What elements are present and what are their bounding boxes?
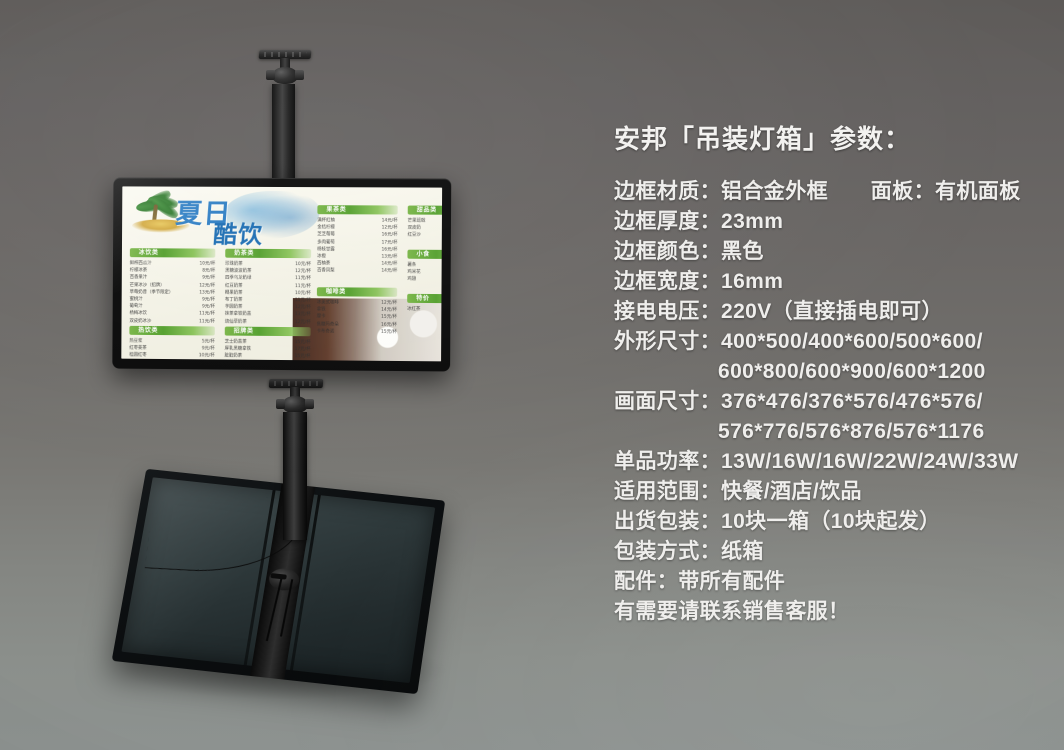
menu-item-name: 芝芝莓莓 [317,232,335,239]
menu-section: 小食薯条10元/份鸡米花12元/份鸡翅14元/份 [407,250,442,284]
spec-line: 576*776/576*876/576*1176 [614,417,1034,447]
menu-item-row: 双皮奶冰沙11元/杯 [129,318,214,326]
mount-plate-holes [264,52,307,57]
spec-line: 外形尺寸：400*500/400*600/500*600/ [614,327,1034,357]
menu-item-row: 杨枝甘露16元/杯 [225,360,311,361]
spec-line: 配件：带所有配件 [614,567,1034,597]
spec-line-list: 边框材质：铝合金外框 面板：有机面板边框厚度：23mm边框颜色：黑色边框宽度：1… [614,177,1034,627]
lightbox-front: 夏日 酷饮 冰饮类鲜榨西瓜汁10元/杯柠檬冰茶8元/杯百香果汁9元/杯芒果冰沙（… [112,177,451,371]
menu-section-banner: 冰饮类 [130,248,215,257]
menu-item-name: 芒果班戟 [408,218,426,225]
menu-item-price: 14元/杯 [376,217,398,224]
spec-line: 边框材质：铝合金外框 面板：有机面板 [614,177,1034,207]
menu-section-title: 咖啡类 [326,288,346,296]
menu-item-name: 热巧克力 [129,359,146,361]
menu-item-name: 烧仙草奶茶 [225,318,247,325]
menu-section-banner: 奶茶类 [225,249,311,258]
menu-section-banner: 招牌类 [225,327,311,337]
menu-section-title: 热饮类 [138,326,158,334]
menu-section-title: 甜品类 [417,206,437,214]
menu-sections: 冰饮类鲜榨西瓜汁10元/杯柠檬冰茶8元/杯百香果汁9元/杯芒果冰沙（招牌）12元… [122,186,442,187]
menu-section-banner: 热饮类 [129,326,214,336]
menu-section-banner: 咖啡类 [317,287,397,297]
menu-item-row: 鸡翅14元/份 [407,276,442,284]
menu-item-name: 薯条 [407,262,416,269]
menu-section-title: 奶茶类 [234,249,254,257]
menu-item-price: 17元/杯 [375,239,397,246]
menu-section-title: 果茶类 [326,206,346,214]
menu-section-title: 招牌类 [234,327,254,335]
menu-item-name: 布丁奶茶 [225,297,243,304]
menu-item-name: 珍珠奶茶 [225,261,243,268]
menu-item-row: 百香凤梨14元/杯 [317,268,397,276]
menu-item-name: 杨枝甘露 [317,246,335,253]
menu-section: 招牌类芝士奶盖茶15元/杯厚乳黑糖拿铁17元/杯脏脏奶茶15元/杯杨枝甘露16元… [225,327,311,362]
menu-item-name: 杨梅冰饮 [129,310,146,317]
product-photo-scene: 夏日 酷饮 冰饮类鲜榨西瓜汁10元/杯柠檬冰茶8元/杯百香果汁9元/杯芒果冰沙（… [0,0,1064,750]
spec-line: 有需要请联系销售客服！ [614,597,1034,627]
menu-item-price: 12元/杯 [289,319,311,326]
menu-section-banner: 小食 [407,250,442,259]
menu-section: 甜品类芒果班戟12元/份双皮奶10元/份红豆沙9元/份 [408,206,443,240]
lightbox-screen: 夏日 酷饮 冰饮类鲜榨西瓜汁10元/杯柠檬冰茶8元/杯百香果汁9元/杯芒果冰沙（… [121,186,442,361]
menu-section: 特价冰红茶5元/杯 [407,294,442,314]
spec-line: 适用范围：快餐/酒店/饮品 [614,477,1034,507]
menu-section: 奶茶类珍珠奶茶10元/杯黑糖波波奶茶12元/杯四季乌龙奶绿11元/杯红豆奶茶11… [225,249,311,326]
menu-item-name: 百香果汁 [130,274,147,281]
menu-section-banner: 甜品类 [408,206,442,215]
menu-item-name: 蜜桃汁 [130,296,143,303]
menu-item-name: 鸡米花 [407,269,420,276]
menu-item-name: 双皮奶冰沙 [129,318,151,325]
menu-headline-line2: 酷饮 [212,215,264,250]
menu-section-banner: 特价 [407,294,442,304]
menu-artwork: 夏日 酷饮 冰饮类鲜榨西瓜汁10元/杯柠檬冰茶8元/杯百香果汁9元/杯芒果冰沙（… [121,186,442,361]
mount-plate-holes-lower [274,381,318,386]
menu-section-title: 冰饮类 [139,249,159,257]
menu-item-row: 热巧克力12元/杯 [129,359,214,361]
menu-item-name: 拿铁 [317,306,326,313]
menu-section-title: 小食 [417,250,430,258]
menu-item-name: 满杯红柚 [317,217,335,224]
spec-line: 边框厚度：23mm [614,207,1034,237]
menu-item-price: 16元/杯 [289,361,311,362]
menu-item-name: 金桔柠檬 [317,224,335,231]
menu-item-row: 烧仙草奶茶12元/杯 [225,318,311,326]
menu-item-name: 杨枝甘露 [225,360,243,361]
menu-item-row: 冰红茶5元/杯 [407,306,442,314]
menu-item-price: 16元/杯 [375,246,397,253]
menu-item-name: 多肉葡萄 [317,239,335,246]
spec-line: 单品功率：13W/16W/16W/22W/24W/33W [614,447,1034,477]
menu-item-name: 冰红茶 [407,306,420,313]
spec-line: 画面尺寸：376*476/376*576/476*576/ [614,387,1034,417]
menu-item-price: 16元/杯 [376,232,398,239]
menu-item-price: 11元/杯 [193,318,215,325]
menu-item-row: 红豆沙9元/份 [408,232,443,240]
swivel-joint-upper [268,58,302,88]
menu-item-name: 卡布奇诺 [317,328,335,335]
spec-title: 安邦「吊装灯箱」参数： [614,124,1034,155]
spec-line: 600*800/600*900/600*1200 [614,357,1034,387]
drop-pole-lower [283,412,307,540]
swivel-knob-right-lower [305,399,314,409]
menu-item-price: 12元/杯 [193,360,215,361]
menu-item-name: 红豆奶茶 [225,282,243,289]
menu-section: 热饮类热豆浆5元/杯红枣姜茶9元/杯桂圆红枣10元/杯热巧克力12元/杯热牛奶8… [129,326,215,362]
menu-section: 冰饮类鲜榨西瓜汁10元/杯柠檬冰茶8元/杯百香果汁9元/杯芒果冰沙（招牌）12元… [129,248,215,325]
menu-item-name: 冰橙 [317,253,326,260]
swivel-knob-left [266,70,275,80]
menu-item-name: 葡萄汁 [130,303,143,310]
menu-section: 果茶类满杯红柚14元/杯金桔柠檬12元/杯芝芝莓莓16元/杯多肉葡萄17元/杯杨… [317,205,398,275]
menu-item-name: 热豆浆 [129,338,142,345]
spec-line: 包装方式：纸箱 [614,537,1034,567]
menu-item-name: 双皮奶 [408,225,421,232]
menu-item-price: 12元/杯 [376,225,398,232]
spec-line: 边框宽度：16mm [614,267,1034,297]
swivel-knob-right [295,70,304,80]
menu-item-price: 14元/杯 [375,268,397,275]
menu-item-price: 8元/杯 [196,268,215,275]
drop-pole-upper [272,84,295,184]
menu-item-name: 红豆沙 [408,232,421,239]
menu-item-row: 卡布奇诺15元/杯 [317,328,397,336]
specification-panel: 安邦「吊装灯箱」参数： 边框材质：铝合金外框 面板：有机面板边框厚度：23mm边… [614,124,1034,627]
menu-item-name: 摩卡 [317,314,326,321]
swivel-knob-left-lower [276,399,285,409]
menu-section-banner: 果茶类 [317,205,397,214]
menu-item-name: 鸡翅 [407,276,416,283]
menu-item-name: 西柚茶 [317,260,330,267]
spec-line: 边框颜色：黑色 [614,237,1034,267]
menu-item-name: 柠檬冰茶 [130,267,147,274]
menu-item-price: 14元/杯 [375,261,397,268]
menu-headline: 夏日 酷饮 [128,190,318,243]
spec-line: 出货包装：10块一箱（10块起发） [614,507,1034,537]
menu-item-price: 15元/杯 [375,329,397,336]
lightbox-rear [112,469,446,694]
spec-line: 接电电压：220V（直接插电即可） [614,297,1034,327]
menu-section: 咖啡类冰美式咖啡12元/杯拿铁14元/杯摩卡15元/杯焦糖玛奇朵16元/杯卡布奇… [317,287,398,336]
menu-item-name: 百香凤梨 [317,268,335,275]
menu-section-title: 特价 [416,294,429,302]
